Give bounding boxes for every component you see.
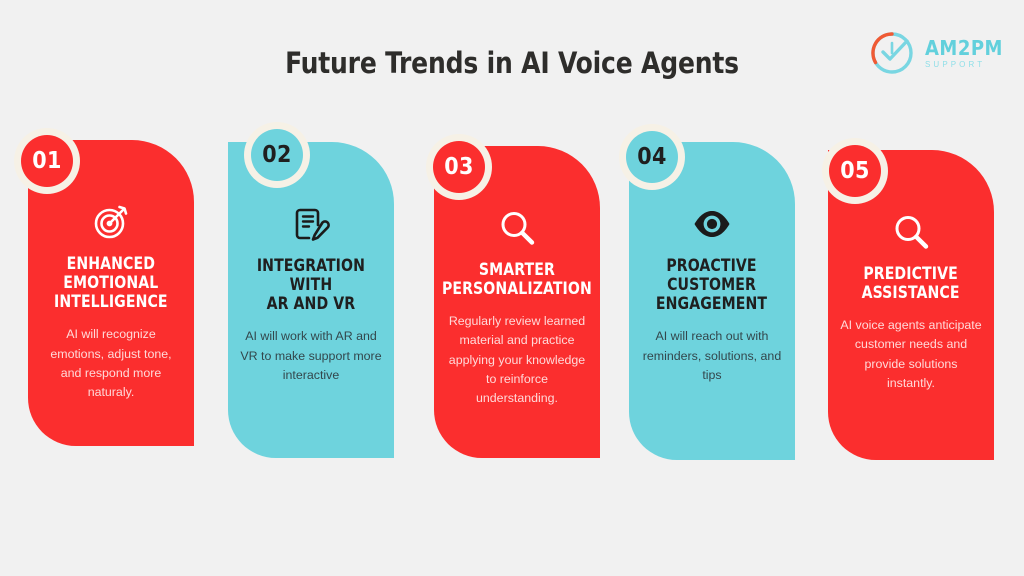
card-title: INTEGRATIONWITHAR AND VR (257, 256, 365, 313)
logo-name: AM2PM (925, 38, 1003, 58)
eye-icon (692, 204, 732, 244)
card-title: PREDICTIVEASSISTANCE (862, 264, 960, 302)
infographic-canvas: Future Trends in AI Voice Agents AM2PM S… (0, 0, 1024, 576)
trend-card-02[interactable]: INTEGRATIONWITHAR AND VRAI will work wit… (228, 142, 394, 458)
magnifier-icon (497, 208, 537, 248)
card-body-text: AI will reach out with reminders, soluti… (637, 327, 787, 385)
card-number-badge-02: 02 (244, 122, 310, 188)
card-number-badge-05: 05 (822, 138, 888, 204)
card-number-label: 04 (626, 131, 678, 183)
brand-logo: AM2PM SUPPORT (866, 22, 1006, 84)
target-dart-icon (91, 202, 131, 242)
clock-check-icon (866, 27, 918, 79)
card-number-label: 01 (21, 135, 73, 187)
card-body-text: Regularly review learned material and pr… (442, 312, 592, 408)
card-body-text: AI will work with AR and VR to make supp… (236, 327, 386, 385)
card-body-text: AI voice agents anticipate customer need… (836, 316, 986, 393)
card-number-label: 05 (829, 145, 881, 197)
card-number-badge-03: 03 (426, 134, 492, 200)
card-number-label: 02 (251, 129, 303, 181)
magnifier-icon (891, 212, 931, 252)
card-number-label: 03 (433, 141, 485, 193)
card-number-badge-04: 04 (619, 124, 685, 190)
card-body-text: AI will recognize emotions, adjust tone,… (36, 325, 186, 402)
card-title: SMARTERPERSONALIZATION (442, 260, 592, 298)
document-pencil-icon (291, 204, 331, 244)
card-number-badge-01: 01 (14, 128, 80, 194)
card-title: ENHANCEDEMOTIONALINTELLIGENCE (54, 254, 168, 311)
card-title: PROACTIVECUSTOMERENGAGEMENT (656, 256, 767, 313)
logo-subtitle: SUPPORT (925, 61, 1003, 69)
page-title: Future Trends in AI Voice Agents (20, 46, 1003, 80)
